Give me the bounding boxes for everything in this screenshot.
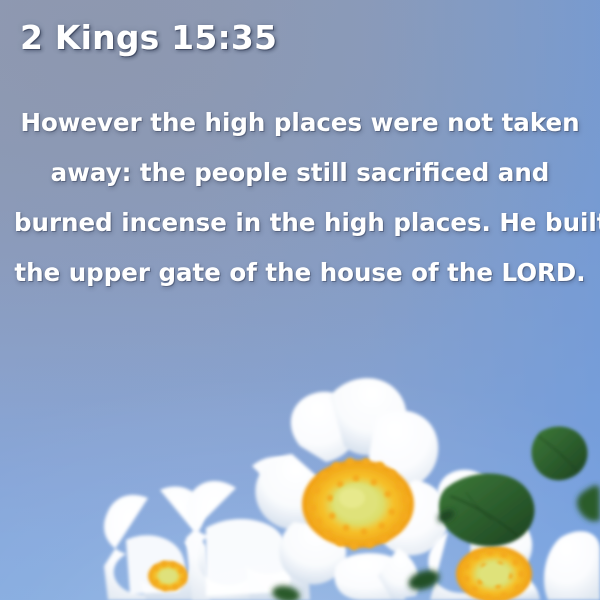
verse-line-4: the upper gate of the house of the LORD.	[14, 248, 586, 298]
flower-far-left-center	[148, 561, 188, 591]
flower-right-center	[456, 546, 532, 600]
verse-text-block: However the high places were not taken a…	[14, 98, 586, 298]
verse-line-3: burned incense in the high places. He bu…	[14, 198, 586, 248]
verse-reference-title: 2 Kings 15:35	[20, 18, 277, 57]
verse-line-1: However the high places were not taken	[14, 98, 586, 148]
verse-line-2: away: the people still sacrificed and	[14, 148, 586, 198]
flower-scene	[0, 370, 600, 600]
flower-far-right	[544, 531, 600, 600]
leaf-right-lower	[577, 485, 600, 521]
leaf-right-upper	[532, 426, 588, 480]
leaf-right-main	[439, 473, 535, 546]
verse-image-canvas: 2 Kings 15:35 However the high places we…	[0, 0, 600, 600]
